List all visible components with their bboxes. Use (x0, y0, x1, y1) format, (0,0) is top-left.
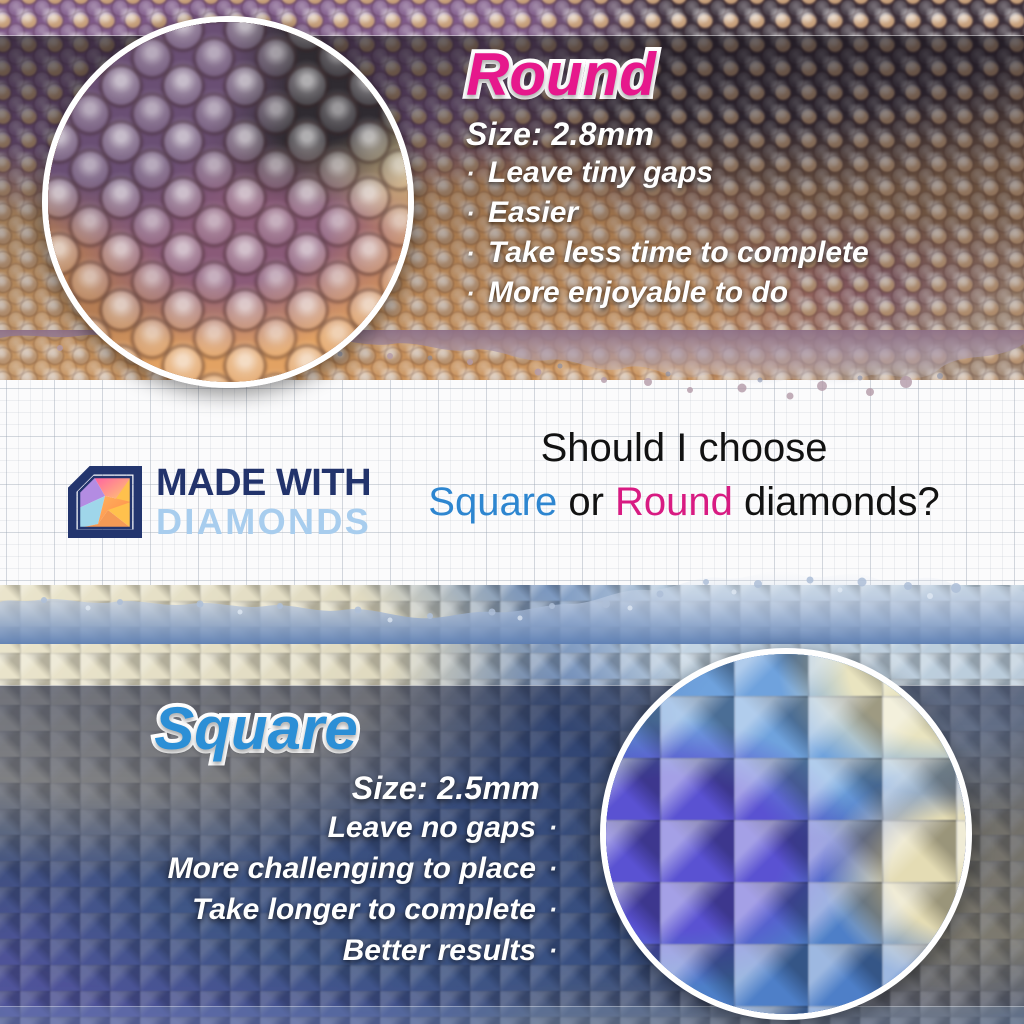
square-bullet-list: Leave no gaps · More challenging to plac… (0, 807, 558, 971)
bullet-icon: · (466, 233, 476, 273)
list-item: · Easier (466, 193, 1006, 233)
tagline-line1: Should I choose (404, 422, 964, 474)
round-text-block: Round Size: 2.8mm · Leave tiny gaps · Ea… (466, 44, 1006, 313)
tagline-square-word: Square (428, 480, 557, 524)
tagline: Should I choose Square or Round diamonds… (404, 422, 964, 528)
square-text-block: Square Size: 2.5mm Leave no gaps · More … (0, 698, 576, 971)
list-item: · More enjoyable to do (466, 273, 1006, 313)
tagline-tail: diamonds? (733, 480, 940, 524)
list-item: Leave no gaps · (0, 807, 558, 848)
list-item-label: Leave tiny gaps (488, 153, 713, 193)
bullet-icon: · (466, 153, 476, 193)
brand-logo-text: MADE WITH DIAMONDS (156, 464, 371, 540)
round-diamonds-closeup-inset (42, 16, 414, 388)
infographic-page: Round Size: 2.8mm · Leave tiny gaps · Ea… (0, 0, 1024, 1024)
list-item: · Take less time to complete (466, 233, 1006, 273)
bullet-icon: · (466, 193, 476, 233)
center-section: MADE WITH DIAMONDS Should I choose Squar… (0, 408, 1024, 558)
round-closeup-beads-offset (42, 16, 414, 388)
bullet-icon: · (548, 848, 558, 889)
list-item: More challenging to place · (0, 848, 558, 889)
bullet-icon: · (548, 807, 558, 848)
list-item-label: Better results (343, 930, 536, 971)
list-item: · Leave tiny gaps (466, 153, 1006, 193)
list-item-label: Take less time to complete (488, 233, 869, 273)
tagline-round-word: Round (615, 480, 733, 524)
tagline-conjunction: or (557, 480, 615, 524)
list-item-label: More challenging to place (168, 848, 536, 889)
bullet-icon: · (548, 930, 558, 971)
brand-name-line1: MADE WITH (156, 464, 371, 502)
square-diamonds-closeup-inset (600, 648, 972, 1020)
list-item-label: More enjoyable to do (488, 273, 788, 313)
brand-name-line2: DIAMONDS (156, 504, 371, 540)
list-item-label: Easier (488, 193, 578, 233)
list-item: Take longer to complete · (0, 889, 558, 930)
list-item-label: Take longer to complete (192, 889, 536, 930)
round-bullet-list: · Leave tiny gaps · Easier · Take less t… (466, 153, 1006, 313)
diamond-gem-icon (68, 466, 142, 538)
list-item-label: Leave no gaps (328, 807, 536, 848)
round-size-label: Size: 2.8mm (466, 116, 1006, 153)
tagline-line2: Square or Round diamonds? (404, 476, 964, 528)
square-closeup-beads (600, 648, 972, 1020)
square-size-label: Size: 2.5mm (0, 770, 558, 807)
brand-logo: MADE WITH DIAMONDS (68, 464, 371, 540)
round-heading: Round (466, 44, 1006, 106)
square-heading: Square (0, 698, 558, 760)
list-item: Better results · (0, 930, 558, 971)
bullet-icon: · (466, 273, 476, 313)
bullet-icon: · (548, 889, 558, 930)
